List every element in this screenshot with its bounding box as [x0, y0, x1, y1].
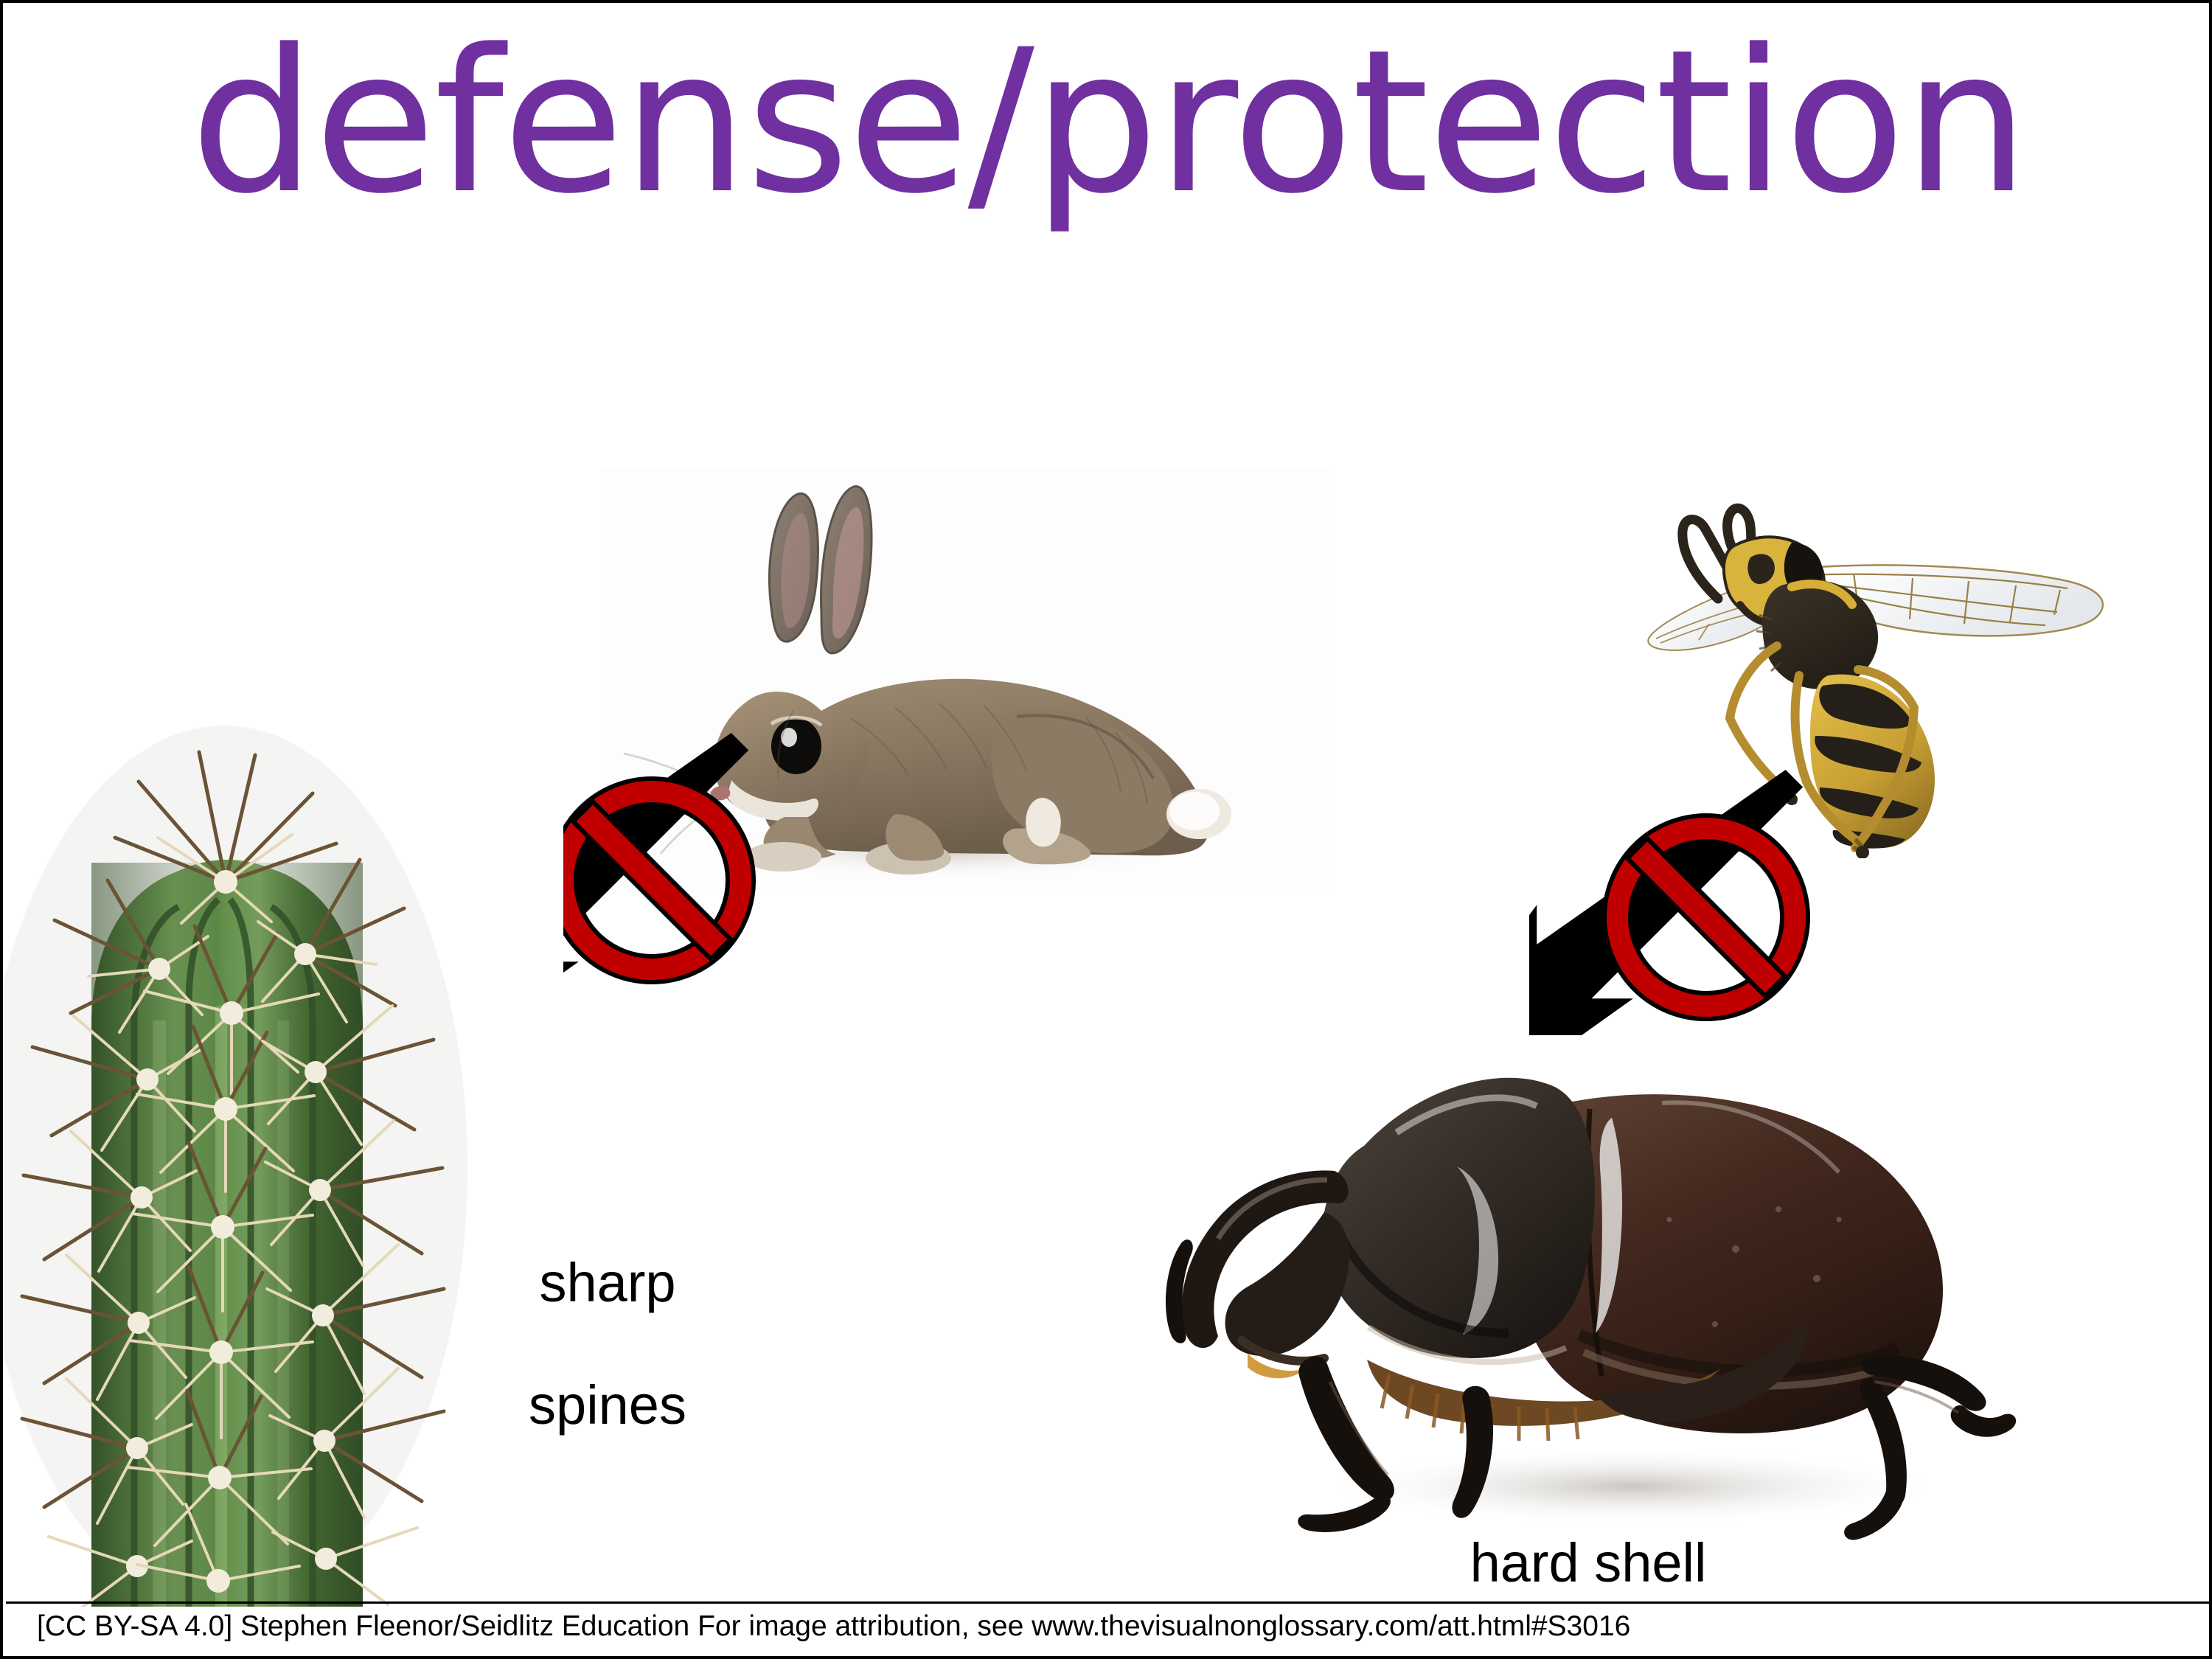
- slide-canvas: defense/protection: [0, 0, 2212, 1659]
- footer-attribution: [CC BY-SA 4.0] Stephen Fleenor/Seidlitz …: [37, 1612, 2028, 1642]
- page-title: defense/protection: [3, 24, 2212, 221]
- label-sharp-spines-line1: sharp: [453, 1253, 762, 1314]
- label-sharp-spines-line2: spines: [453, 1375, 762, 1436]
- label-hard-shell-line1: hard shell: [1382, 1533, 1795, 1594]
- no-entry-arrow-right: [1529, 766, 1883, 1076]
- label-sharp-spines: sharp spines: [453, 1192, 762, 1497]
- footer-divider: [6, 1601, 2212, 1604]
